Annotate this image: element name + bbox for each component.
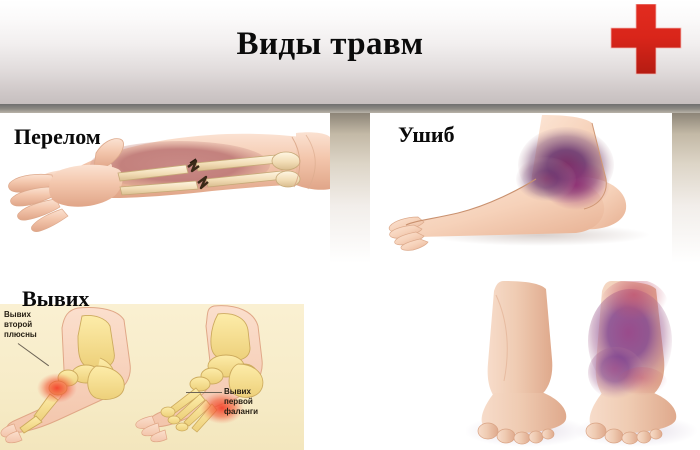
- page-title: Виды травм: [0, 26, 660, 63]
- callout-second-metatarsal: Вывих второй плюсны: [4, 310, 37, 341]
- panel-sprain-illustration: [466, 281, 700, 450]
- label-fracture: Перелом: [14, 125, 101, 148]
- callout-line-3: плюсны: [4, 330, 37, 340]
- label-dislocation: Вывих: [22, 287, 89, 310]
- panel-seam-top: [330, 113, 370, 263]
- callout-line-2: первой: [224, 397, 258, 407]
- foot-skeleton-dislocation-diagram: [0, 304, 304, 450]
- callout-first-phalanx: Вывих первой фаланги: [224, 387, 258, 418]
- panel-seam-right: [672, 113, 700, 263]
- header-divider: [0, 104, 700, 113]
- label-bruise: Ушиб: [398, 123, 455, 146]
- slide-canvas: Виды травм: [0, 0, 700, 450]
- panel-dislocation: Вывих второй плюсны Вывих первой фаланги: [0, 304, 304, 450]
- callout-leader-right: [186, 392, 222, 393]
- panel-fracture: Перелом: [0, 113, 330, 255]
- callout-line-2: второй: [4, 320, 37, 330]
- callout-line-1: Вывих: [224, 387, 258, 397]
- callout-line-1: Вывих: [4, 310, 37, 320]
- red-cross-icon: [610, 4, 682, 76]
- panel-bruise: Ушиб: [370, 113, 700, 258]
- swollen-bruised-legs-illustration: [466, 281, 700, 450]
- callout-line-3: фаланги: [224, 407, 258, 417]
